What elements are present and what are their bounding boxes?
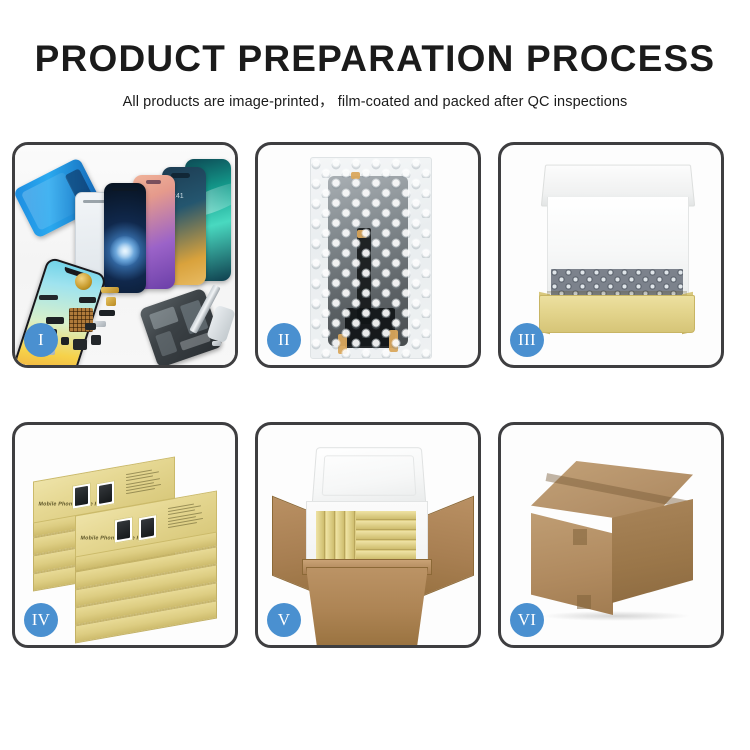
- step-badge-6: VI: [510, 603, 544, 637]
- battery-connector-bar-image: [39, 295, 58, 300]
- power-button-flex-image: [61, 337, 69, 345]
- box-window-2: [96, 480, 115, 507]
- box-spec-lines: [168, 501, 206, 530]
- step-badge-5: V: [267, 603, 301, 637]
- inner-yellow-boxes-image: [316, 511, 416, 559]
- carton-handle-tab-lower: [577, 595, 591, 609]
- step-badge-1: I: [24, 323, 58, 357]
- page-title: PRODUCT PREPARATION PROCESS: [0, 40, 750, 77]
- taptic-engine-image: [85, 323, 96, 330]
- antenna-flex-image: [99, 310, 115, 316]
- inner-box-horizontal: [356, 541, 416, 550]
- carton-body-image: [306, 567, 428, 647]
- process-steps-grid: 9:41 I II: [12, 142, 738, 648]
- header: PRODUCT PREPARATION PROCESS All products…: [0, 0, 750, 111]
- step-panel-3[interactable]: III: [498, 142, 724, 368]
- foam-liner-lid-image: [312, 447, 427, 505]
- step-badge-4: IV: [24, 603, 58, 637]
- assembled-phone-image: [13, 256, 108, 368]
- inner-box-vertical: [316, 511, 325, 559]
- gold-contact-strip-image: [101, 287, 119, 293]
- box-spec-lines: [126, 467, 164, 496]
- dark-burst-screen-image: [104, 183, 146, 293]
- carton-front-face-image: [531, 513, 613, 615]
- bubble-wrap-bag-image: [310, 157, 432, 359]
- flex-cable-a-image: [79, 297, 96, 303]
- screw-set-image: [212, 341, 221, 346]
- inner-box-vertical: [336, 511, 345, 559]
- gold-bracket-image: [106, 297, 116, 306]
- step-badge-3: III: [510, 323, 544, 357]
- inner-box-horizontal: [356, 531, 416, 540]
- flex-cable-b-image: [46, 317, 64, 324]
- inner-box-horizontal: [356, 511, 416, 520]
- step-panel-4[interactable]: Mobile Phone Spare PartsMobile Phone Spa…: [12, 422, 238, 648]
- inner-box-horizontal: [356, 521, 416, 530]
- step-panel-2[interactable]: II: [255, 142, 481, 368]
- step-badge-2: II: [267, 323, 301, 357]
- carton-handle-tab-upper: [573, 529, 587, 545]
- step-panel-6[interactable]: VI: [498, 422, 724, 648]
- box-stack: Mobile Phone Spare PartsMobile Phone Spa…: [23, 447, 233, 637]
- step-panel-1[interactable]: 9:41 I: [12, 142, 238, 368]
- box-window-2: [138, 514, 157, 541]
- box-window-1: [72, 482, 91, 509]
- box-window-1: [114, 516, 133, 543]
- yellow-box-front-image: [539, 295, 695, 333]
- vibration-motor-image: [91, 335, 101, 345]
- page-subtitle: All products are image-printed， film-coa…: [0, 90, 750, 111]
- bubble-texture-overlay: [311, 158, 431, 358]
- step-panel-5[interactable]: V: [255, 422, 481, 648]
- inner-box-vertical: [326, 511, 335, 559]
- carton-ground-shadow: [541, 611, 691, 621]
- inner-box-vertical: [346, 511, 355, 559]
- speaker-module-image: [73, 339, 87, 350]
- inner-box-horizontal: [356, 551, 416, 559]
- gold-camera-module-image: [75, 273, 92, 290]
